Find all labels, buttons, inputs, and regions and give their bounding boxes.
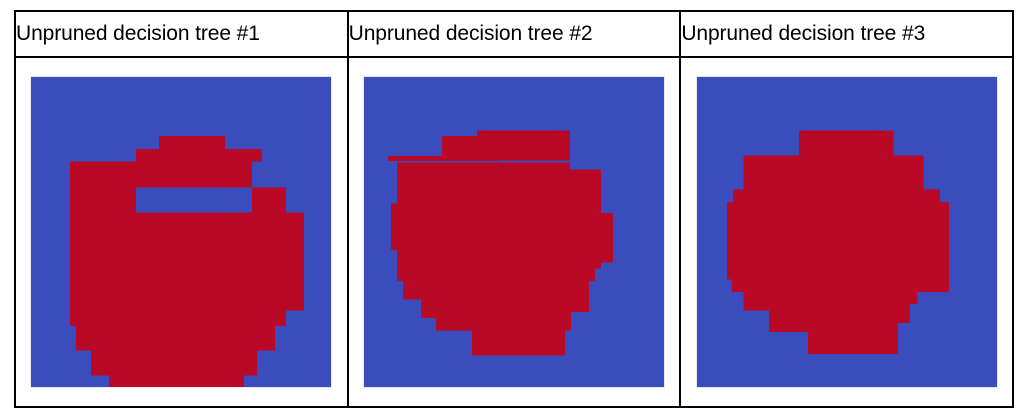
table-body (15, 57, 1013, 407)
table-row (15, 57, 1013, 407)
decision-tree-comparison-table: Unpruned decision tree #1 Unpruned decis… (14, 10, 1014, 408)
decision-boundary-plot-1 (31, 77, 331, 387)
decision-boundary-plot-2 (364, 77, 664, 387)
plot-cell-tree-3 (680, 57, 1013, 407)
table-header-row-group: Unpruned decision tree #1 Unpruned decis… (15, 11, 1013, 57)
decision-boundary-svg-3 (697, 77, 997, 387)
column-header-tree-3: Unpruned decision tree #3 (680, 11, 1013, 57)
screenshot-root: Unpruned decision tree #1 Unpruned decis… (0, 0, 1028, 418)
plot-cell-tree-2 (348, 57, 681, 407)
table-header-row: Unpruned decision tree #1 Unpruned decis… (15, 11, 1013, 57)
column-header-tree-2: Unpruned decision tree #2 (348, 11, 681, 57)
decision-boundary-plot-3 (697, 77, 997, 387)
plot-cell-tree-1 (15, 57, 348, 407)
decision-boundary-svg-2 (364, 77, 664, 387)
decision-boundary-svg-1 (31, 77, 331, 387)
column-header-tree-1: Unpruned decision tree #1 (15, 11, 348, 57)
